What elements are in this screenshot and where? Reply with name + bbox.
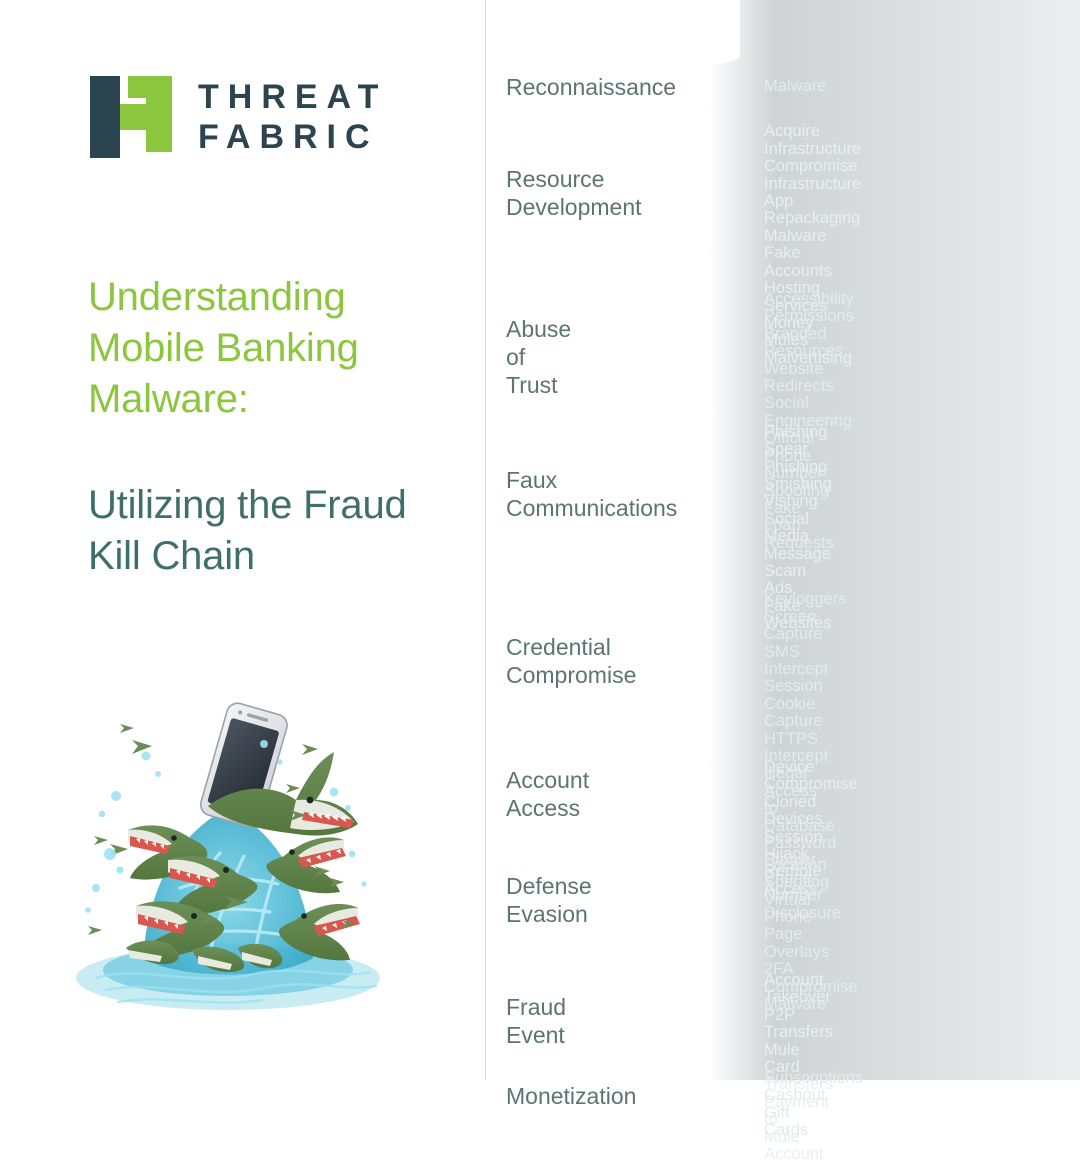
sharks-circling-smartphone-illustration <box>58 688 398 1020</box>
stage-label: Abuse of Trust <box>506 315 571 399</box>
brand-name-line2: FABRIC <box>198 117 387 157</box>
stage-label: Monetization <box>506 1082 636 1110</box>
infographic-page: THREAT FABRIC Understanding Mobile Banki… <box>0 0 1080 1080</box>
headline-primary: Understanding Mobile Banking Malware: <box>88 272 468 426</box>
stage-label: Defense Evasion <box>506 872 592 928</box>
headline-block: Understanding Mobile Banking Malware: Ut… <box>88 272 468 582</box>
stage-label: Faux Communications <box>506 466 677 522</box>
left-panel: THREAT FABRIC Understanding Mobile Banki… <box>0 0 486 1080</box>
kill-chain-panel: ReconnaissanceMalwareResource Developmen… <box>486 0 1080 1080</box>
threatfabric-logo-mark-icon <box>88 74 174 160</box>
stage-label: Account Access <box>506 766 589 822</box>
brand-logo: THREAT FABRIC <box>88 74 387 160</box>
headline-secondary: Utilizing the Fraud Kill Chain <box>88 480 468 582</box>
stage-label: Reconnaissance <box>506 73 676 101</box>
brand-wordmark: THREAT FABRIC <box>198 77 387 157</box>
stage-label: Credential Compromise <box>506 633 636 689</box>
stage-label: Fraud Event <box>506 993 566 1049</box>
stage-label: Resource Development <box>506 165 642 221</box>
brand-name-line1: THREAT <box>198 77 387 117</box>
